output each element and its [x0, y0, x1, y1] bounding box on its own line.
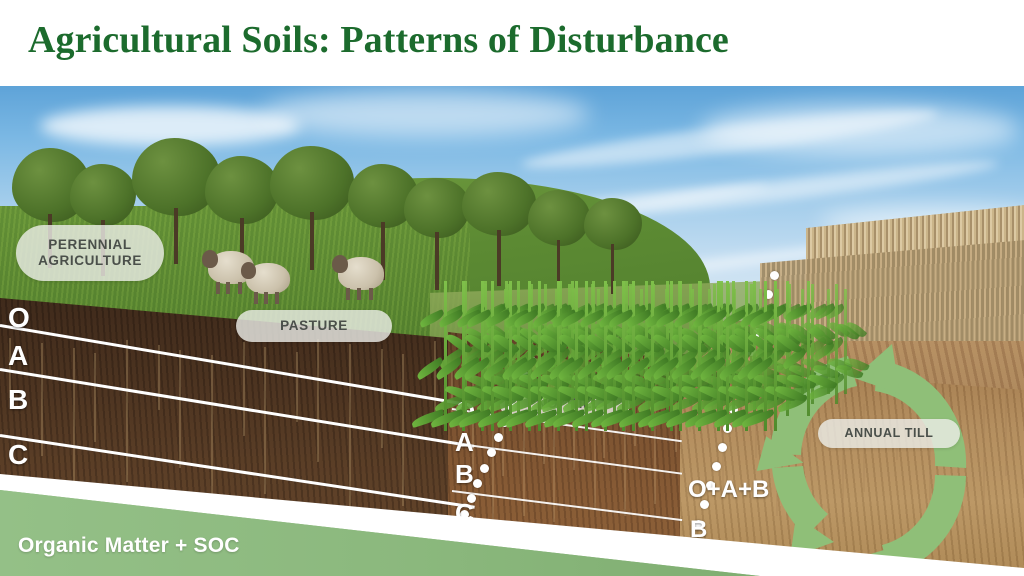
label-annual-till[interactable]: ANNUAL TILL — [818, 419, 960, 448]
horizon-label-mid-B: B — [455, 461, 474, 487]
tree-icon — [584, 198, 642, 294]
perennial-line-1: PERENNIAL — [48, 237, 131, 253]
organic-matter-label: Organic Matter + SOC — [18, 534, 240, 558]
divider-dot — [440, 556, 449, 565]
label-pasture[interactable]: PASTURE — [236, 310, 392, 342]
cloud-icon — [260, 91, 590, 137]
root-streak — [296, 352, 298, 422]
horizon-label-left-A: A — [8, 342, 28, 370]
title-bar: Agricultural Soils: Patterns of Disturba… — [0, 0, 1024, 86]
root-streak — [1005, 393, 1007, 476]
tree-icon — [462, 172, 536, 286]
sheep-icon — [246, 258, 290, 298]
root-streak — [41, 343, 43, 456]
root-streak — [94, 353, 96, 442]
horizon-label-left-C: C — [8, 441, 28, 469]
horizon-label-mid-A: A — [455, 429, 474, 455]
horizon-label-mid-C: C — [455, 500, 474, 526]
horizon-label-right-C: C — [690, 546, 707, 570]
cloud-icon — [700, 104, 1020, 156]
root-streak — [126, 340, 128, 482]
divider-dot — [770, 271, 779, 280]
horizon-label-right-B: B — [690, 518, 707, 542]
root-streak — [179, 350, 181, 468]
root-streak — [73, 348, 75, 514]
root-streak — [402, 354, 404, 506]
divider-dot — [447, 541, 456, 550]
sheep-icon — [338, 252, 384, 294]
root-streak — [211, 355, 213, 526]
divider-dot — [718, 443, 727, 452]
page-title: Agricultural Soils: Patterns of Disturba… — [28, 18, 729, 62]
root-streak — [317, 339, 319, 462]
divider-dot — [712, 462, 721, 471]
divider-dot — [480, 464, 489, 473]
soil-landscape-illustration: O A B C O A B C O+A+B B C — [0, 86, 1024, 576]
label-perennial-agriculture[interactable]: PERENNIAL AGRICULTURE — [16, 225, 164, 281]
tree-icon — [528, 190, 590, 294]
horizon-label-left-B: B — [8, 386, 28, 414]
horizon-label-left-O: O — [8, 304, 30, 332]
slide-root: Agricultural Soils: Patterns of Disturba… — [0, 0, 1024, 576]
root-streak — [158, 345, 160, 410]
tree-icon — [404, 178, 470, 290]
perennial-line-2: AGRICULTURE — [38, 253, 142, 269]
corn-plant-icon — [760, 281, 790, 431]
divider-dot — [494, 433, 503, 442]
root-streak — [349, 344, 351, 520]
root-streak — [243, 342, 245, 436]
